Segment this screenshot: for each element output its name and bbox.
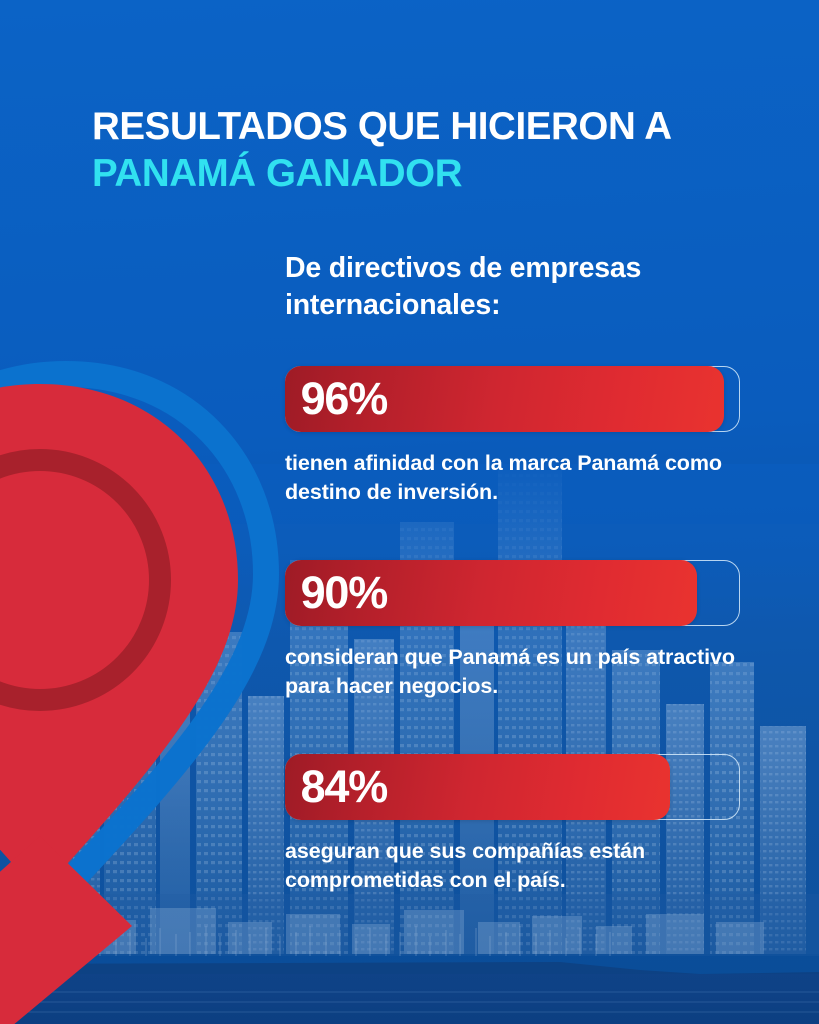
stat-caption: tienen afinidad con la marca Panamá como… xyxy=(285,449,735,506)
stat-value: 90% xyxy=(285,570,387,615)
title-line-1: RESULTADOS QUE HICIERON A xyxy=(92,105,672,148)
stat-item: 96% tienen afinidad con la marca Panamá … xyxy=(285,366,755,506)
stat-caption: consideran que Panamá es un país atracti… xyxy=(285,643,735,700)
stat-caption: aseguran que sus compañías están comprom… xyxy=(285,837,735,894)
progress-bar-track: 96% xyxy=(285,366,740,432)
subtitle: De directivos de empresas internacionale… xyxy=(285,250,755,324)
progress-bar-fill: 96% xyxy=(285,366,725,432)
progress-bar-track: 84% xyxy=(285,754,740,820)
page-title: RESULTADOS QUE HICIERON A PANAMÁ GANADOR xyxy=(92,104,772,198)
infographic-poster: RESULTADOS QUE HICIERON A PANAMÁ GANADOR… xyxy=(0,0,819,1024)
poster-content: RESULTADOS QUE HICIERON A PANAMÁ GANADOR… xyxy=(0,0,819,1024)
title-line-2: PANAMÁ GANADOR xyxy=(92,151,772,198)
progress-bar-fill: 84% xyxy=(285,754,670,820)
progress-bar-fill: 90% xyxy=(285,560,697,626)
stat-value: 84% xyxy=(285,764,387,809)
stat-value: 96% xyxy=(285,376,387,421)
stat-item: 84% aseguran que sus compañías están com… xyxy=(285,754,755,894)
progress-bar-track: 90% xyxy=(285,560,740,626)
stats-list: 96% tienen afinidad con la marca Panamá … xyxy=(285,366,755,895)
stat-item: 90% consideran que Panamá es un país atr… xyxy=(285,560,755,700)
